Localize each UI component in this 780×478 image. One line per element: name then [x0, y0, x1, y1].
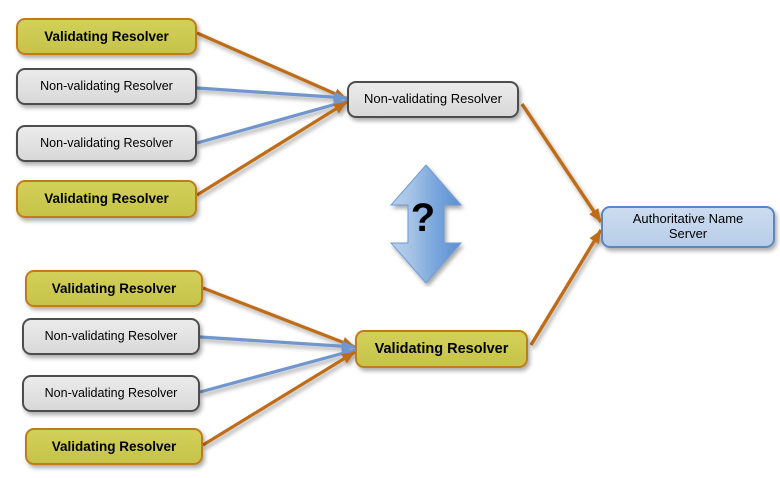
- top-resolver-2-label: Non-validating Resolver: [40, 79, 173, 93]
- hub-non-validating-resolver[interactable]: Non-validating Resolver: [347, 81, 519, 118]
- top-resolver-1-label: Validating Resolver: [44, 29, 169, 45]
- bottom-resolver-1[interactable]: Validating Resolver: [25, 270, 203, 307]
- bottom-resolver-1-label: Validating Resolver: [52, 281, 177, 297]
- hub-validating-resolver[interactable]: Validating Resolver: [355, 330, 528, 368]
- authoritative-name-server-line-2: Server: [669, 227, 707, 242]
- top-resolver-4-label: Validating Resolver: [44, 191, 169, 207]
- hub-validating-resolver-label: Validating Resolver: [375, 341, 509, 358]
- bottom-resolver-4-label: Validating Resolver: [52, 439, 177, 455]
- hub-non-validating-resolver-label: Non-validating Resolver: [364, 92, 502, 107]
- top-resolver-1[interactable]: Validating Resolver: [16, 18, 197, 55]
- edge-hub-top-to-authoritative: [522, 104, 601, 222]
- edge-bottom-validating-2-to-hub-bottom: [203, 352, 355, 445]
- authoritative-name-server[interactable]: Authoritative NameServer: [601, 206, 775, 248]
- edge-top-nonvalidating-2-to-hub-top: [197, 101, 347, 143]
- top-resolver-2[interactable]: Non-validating Resolver: [16, 68, 197, 105]
- top-resolver-3-label: Non-validating Resolver: [40, 136, 173, 150]
- bottom-resolver-2-label: Non-validating Resolver: [45, 329, 178, 343]
- top-resolver-3[interactable]: Non-validating Resolver: [16, 125, 197, 162]
- bottom-resolver-4[interactable]: Validating Resolver: [25, 428, 203, 465]
- top-resolver-4[interactable]: Validating Resolver: [16, 180, 197, 218]
- diagram-canvas: ? Validating ResolverNon-validating Reso…: [0, 0, 780, 478]
- bottom-resolver-3-label: Non-validating Resolver: [45, 386, 178, 400]
- edge-hub-bottom-to-authoritative: [531, 230, 601, 345]
- edge-top-validating-2-to-hub-top: [197, 102, 347, 195]
- bottom-resolver-2[interactable]: Non-validating Resolver: [22, 318, 200, 355]
- edge-bottom-nonvalidating-2-to-hub-bottom: [200, 350, 355, 392]
- authoritative-name-server-line-1: Authoritative Name: [633, 212, 744, 227]
- bottom-resolver-3[interactable]: Non-validating Resolver: [22, 375, 200, 412]
- question-mark-label: ?: [403, 198, 443, 238]
